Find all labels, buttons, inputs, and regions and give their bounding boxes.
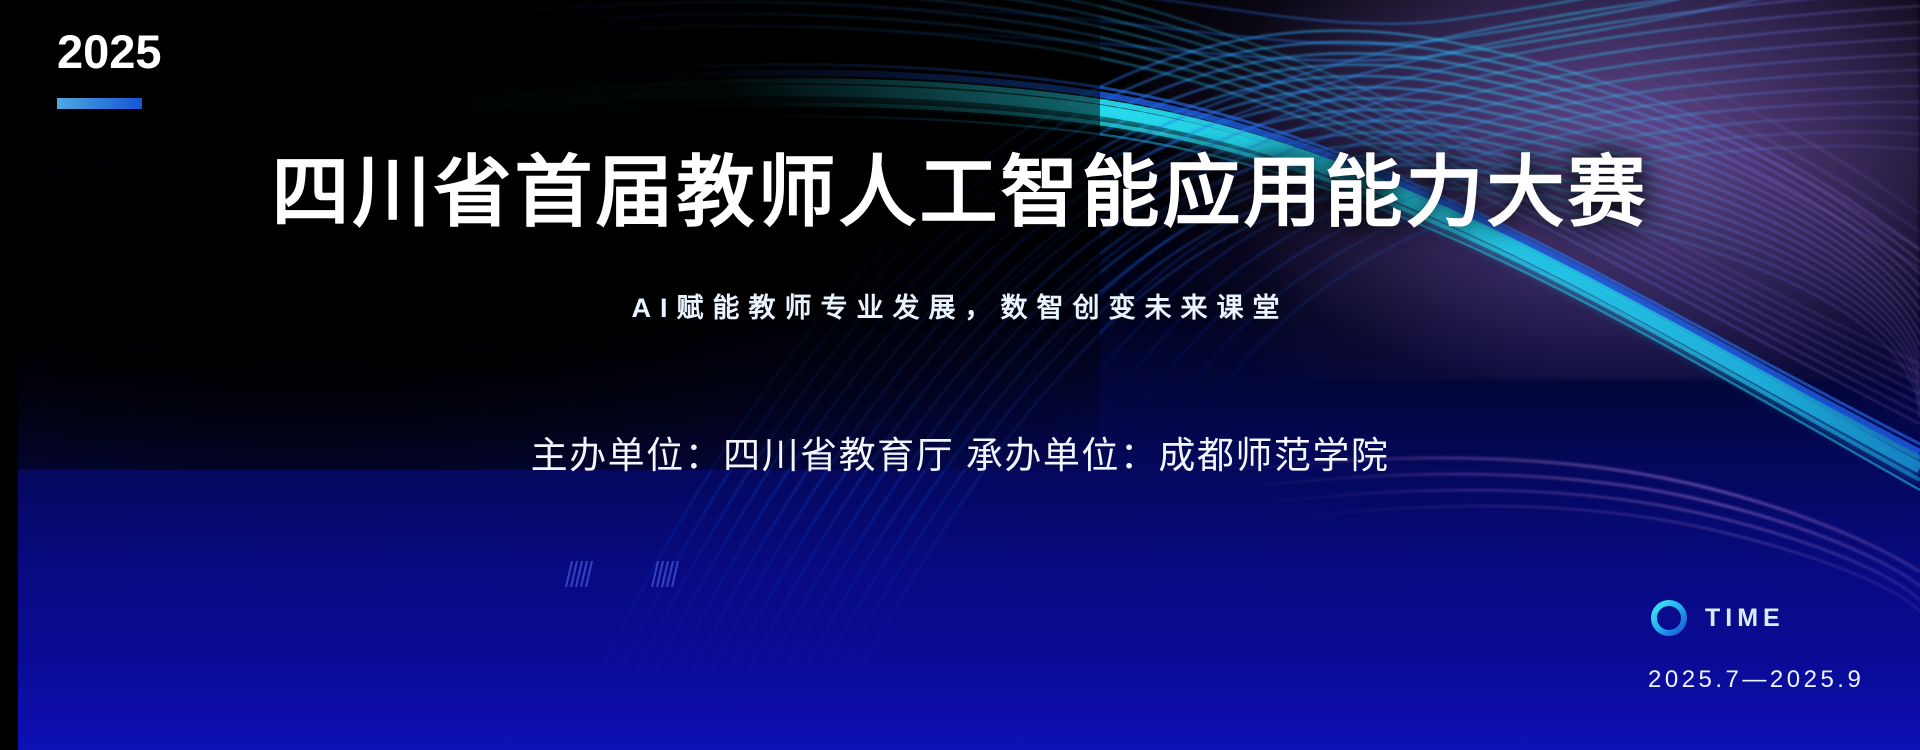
year-underline-bar (57, 98, 142, 109)
organizers-line: 主办单位：四川省教育厅 承办单位：成都师范学院 (0, 434, 1920, 478)
time-ring-icon (1648, 597, 1690, 639)
year-label: 2025 (57, 28, 162, 75)
time-logo-label: TIME (1705, 604, 1785, 633)
time-logo: TIME (1648, 597, 1785, 639)
year-block: 2025 (57, 28, 162, 109)
date-range: 2025.7—2025.9 (1648, 666, 1864, 694)
poster-banner: 2025 四川省首届教师人工智能应用能力大赛 AI赋能教师专业发展，数智创变未来… (0, 0, 1920, 750)
hatched-parallelogram-icon (644, 561, 680, 587)
hatched-parallelogram-icon (558, 561, 594, 587)
page-subtitle: AI赋能教师专业发展，数智创变未来课堂 (0, 292, 1920, 324)
left-black-border (0, 0, 18, 750)
page-title: 四川省首届教师人工智能应用能力大赛 (0, 148, 1920, 238)
